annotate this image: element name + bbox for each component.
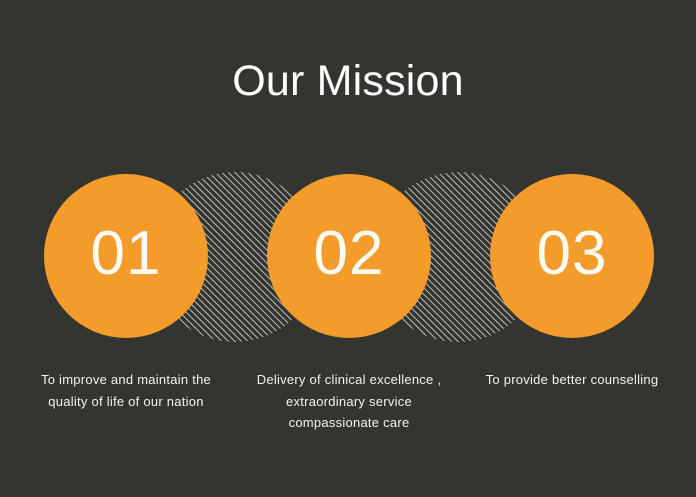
mission-number-1: 01: [91, 223, 162, 285]
page-title: Our Mission: [0, 56, 696, 106]
mission-circle-3[interactable]: 03: [490, 174, 654, 338]
mission-circle-2[interactable]: 02: [267, 174, 431, 338]
mission-caption-1: To improve and maintain the quality of l…: [20, 369, 232, 412]
mission-circle-1[interactable]: 01: [44, 174, 208, 338]
mission-number-2: 02: [314, 223, 385, 285]
mission-graphic-band: 01 02 03: [0, 172, 696, 344]
mission-caption-2: Delivery of clinical excellence , extrao…: [243, 369, 455, 434]
mission-caption-3: To provide better counselling: [466, 369, 678, 391]
slide-canvas: Our Mission 01 02 03 To improve and main…: [0, 0, 696, 497]
mission-number-3: 03: [537, 223, 608, 285]
